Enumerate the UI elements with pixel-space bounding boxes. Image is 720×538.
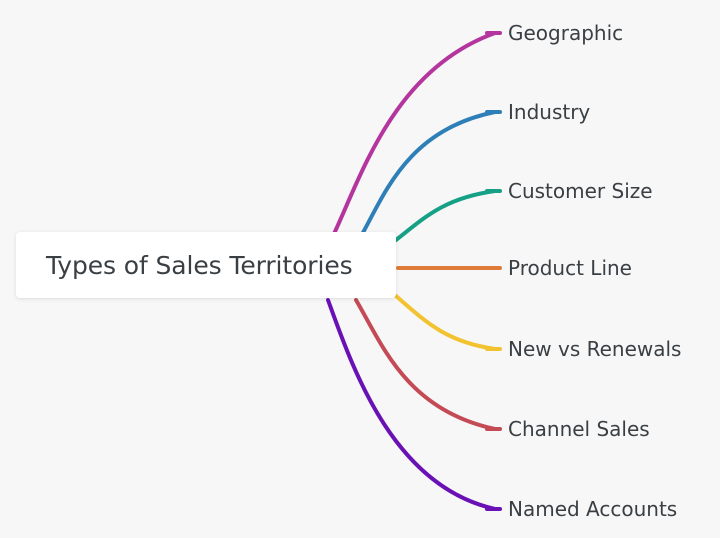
central-node[interactable]: Types of Sales Territories [16, 232, 396, 298]
mind-map-canvas: Types of Sales Territories GeographicInd… [0, 0, 720, 538]
branch-label-customer-size[interactable]: Customer Size [508, 179, 653, 203]
branch-label-channel-sales[interactable]: Channel Sales [508, 417, 650, 441]
branch-label-product-line[interactable]: Product Line [508, 256, 632, 280]
branch-curve-geographic[interactable] [332, 33, 495, 238]
branch-curve-named-accounts[interactable] [328, 300, 495, 509]
branch-curve-industry[interactable] [360, 112, 495, 238]
branch-label-named-accounts[interactable]: Named Accounts [508, 497, 677, 521]
branch-label-geographic[interactable]: Geographic [508, 21, 623, 45]
central-node-label: Types of Sales Territories [16, 251, 353, 280]
branch-curve-customer-size[interactable] [396, 191, 495, 240]
branch-label-new-vs-renewals[interactable]: New vs Renewals [508, 337, 681, 361]
branch-curve-new-vs-renewals[interactable] [396, 296, 495, 349]
branch-label-industry[interactable]: Industry [508, 100, 590, 124]
